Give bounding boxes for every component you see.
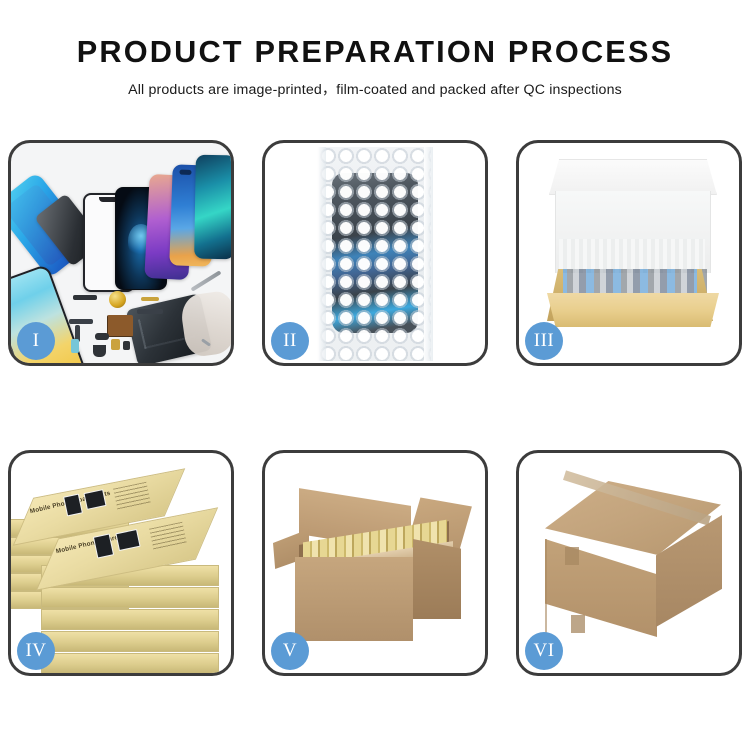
process-step-panel-5[interactable]: V	[262, 450, 488, 676]
copper-mesh-icon	[107, 315, 133, 337]
step-badge-6: VI	[525, 632, 563, 670]
speaker-icon	[93, 345, 106, 357]
battery-connector-icon	[71, 339, 79, 353]
power-button-flex-icon	[141, 297, 159, 301]
carton-side-face	[413, 539, 461, 619]
step-badge-4: IV	[17, 632, 55, 670]
mailer-box-front-wall	[547, 293, 719, 327]
stacked-box-r4	[41, 631, 219, 652]
carton-front-face	[295, 557, 413, 641]
process-step-panel-1[interactable]: I	[8, 140, 234, 366]
page-subtitle: All products are image-printed，film-coat…	[0, 69, 750, 99]
page-header: PRODUCT PREPARATION PROCESS All products…	[0, 0, 750, 99]
carton-edge-seam-left	[545, 539, 547, 637]
stacked-box-r5	[41, 653, 219, 673]
carton-flap-tab-top	[565, 547, 579, 565]
process-step-panel-2[interactable]: II	[262, 140, 488, 366]
bubble-wrap-left-edge	[317, 147, 326, 361]
vibration-motor-icon	[109, 291, 126, 308]
step-badge-5: V	[271, 632, 309, 670]
bubble-wrap-texture-over	[319, 147, 431, 361]
process-step-panel-6[interactable]: VI	[516, 450, 742, 676]
flex-cable-icon-3	[137, 309, 163, 314]
page-title: PRODUCT PREPARATION PROCESS	[4, 0, 747, 69]
flex-cable-icon-1	[69, 319, 93, 324]
stacked-box-r3	[41, 609, 219, 630]
mailer-box-lid	[549, 159, 717, 195]
process-step-grid: I II III	[8, 140, 742, 676]
tweezers-icon	[191, 270, 222, 291]
step-badge-2: II	[271, 322, 309, 360]
step-badge-1: I	[17, 322, 55, 360]
stacked-box-r2	[41, 587, 219, 608]
sealed-carton-front-face	[545, 539, 657, 637]
process-step-panel-4[interactable]: Mobile Phone Spare Parts Mobile Phone Sp…	[8, 450, 234, 676]
process-step-panel-3[interactable]: III	[516, 140, 742, 366]
packed-screens-row	[559, 269, 707, 295]
carton-flap-tab-bottom	[571, 615, 585, 633]
teal-swirl-phone-icon	[194, 155, 231, 260]
foam-liner	[559, 239, 705, 273]
camera-module-icon	[95, 333, 109, 340]
bubble-wrap-right-edge	[424, 147, 433, 361]
sim-tray-icon	[111, 339, 120, 350]
earpiece-mesh-icon	[73, 295, 97, 300]
step-badge-3: III	[525, 322, 563, 360]
charging-port-icon	[123, 341, 130, 350]
